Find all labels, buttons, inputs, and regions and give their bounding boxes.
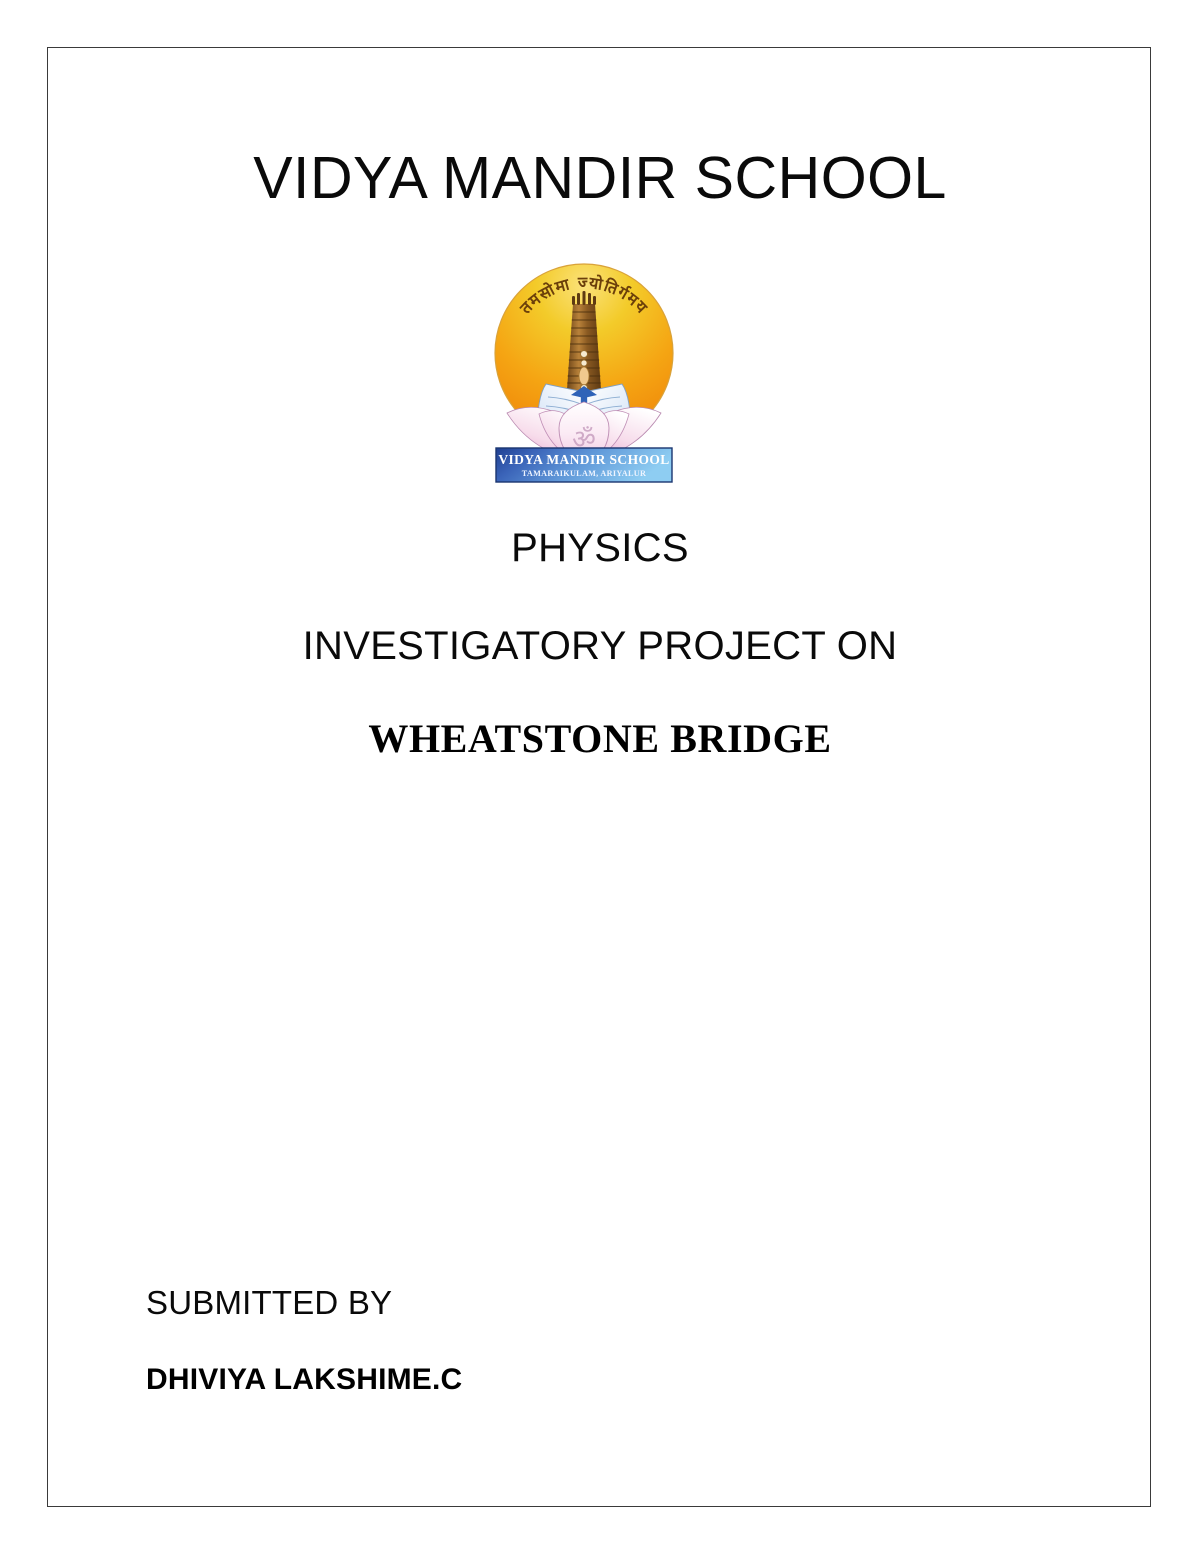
logo-banner-school-name: VIDYA MANDIR SCHOOL	[498, 452, 669, 467]
page-title-school-name: VIDYA MANDIR SCHOOL	[0, 148, 1200, 210]
school-logo-graphic: तमसोमा ज्योतिर्गमय	[493, 262, 675, 484]
logo-banner: VIDYA MANDIR SCHOOL TAMARAIKULAM, ARIYAL…	[496, 448, 672, 482]
project-heading: INVESTIGATORY PROJECT ON	[0, 624, 1200, 668]
submitted-by-label: SUBMITTED BY	[146, 1284, 392, 1322]
school-logo: तमसोमा ज्योतिर्गमय	[493, 262, 675, 484]
project-topic: WHEATSTONE BRIDGE	[0, 717, 1200, 761]
logo-banner-location: TAMARAIKULAM, ARIYALUR	[522, 469, 646, 478]
subject-heading: PHYSICS	[0, 526, 1200, 570]
document-page: VIDYA MANDIR SCHOOL	[0, 0, 1200, 1553]
student-name: DHIVIYA LAKSHIME.C	[146, 1363, 462, 1397]
